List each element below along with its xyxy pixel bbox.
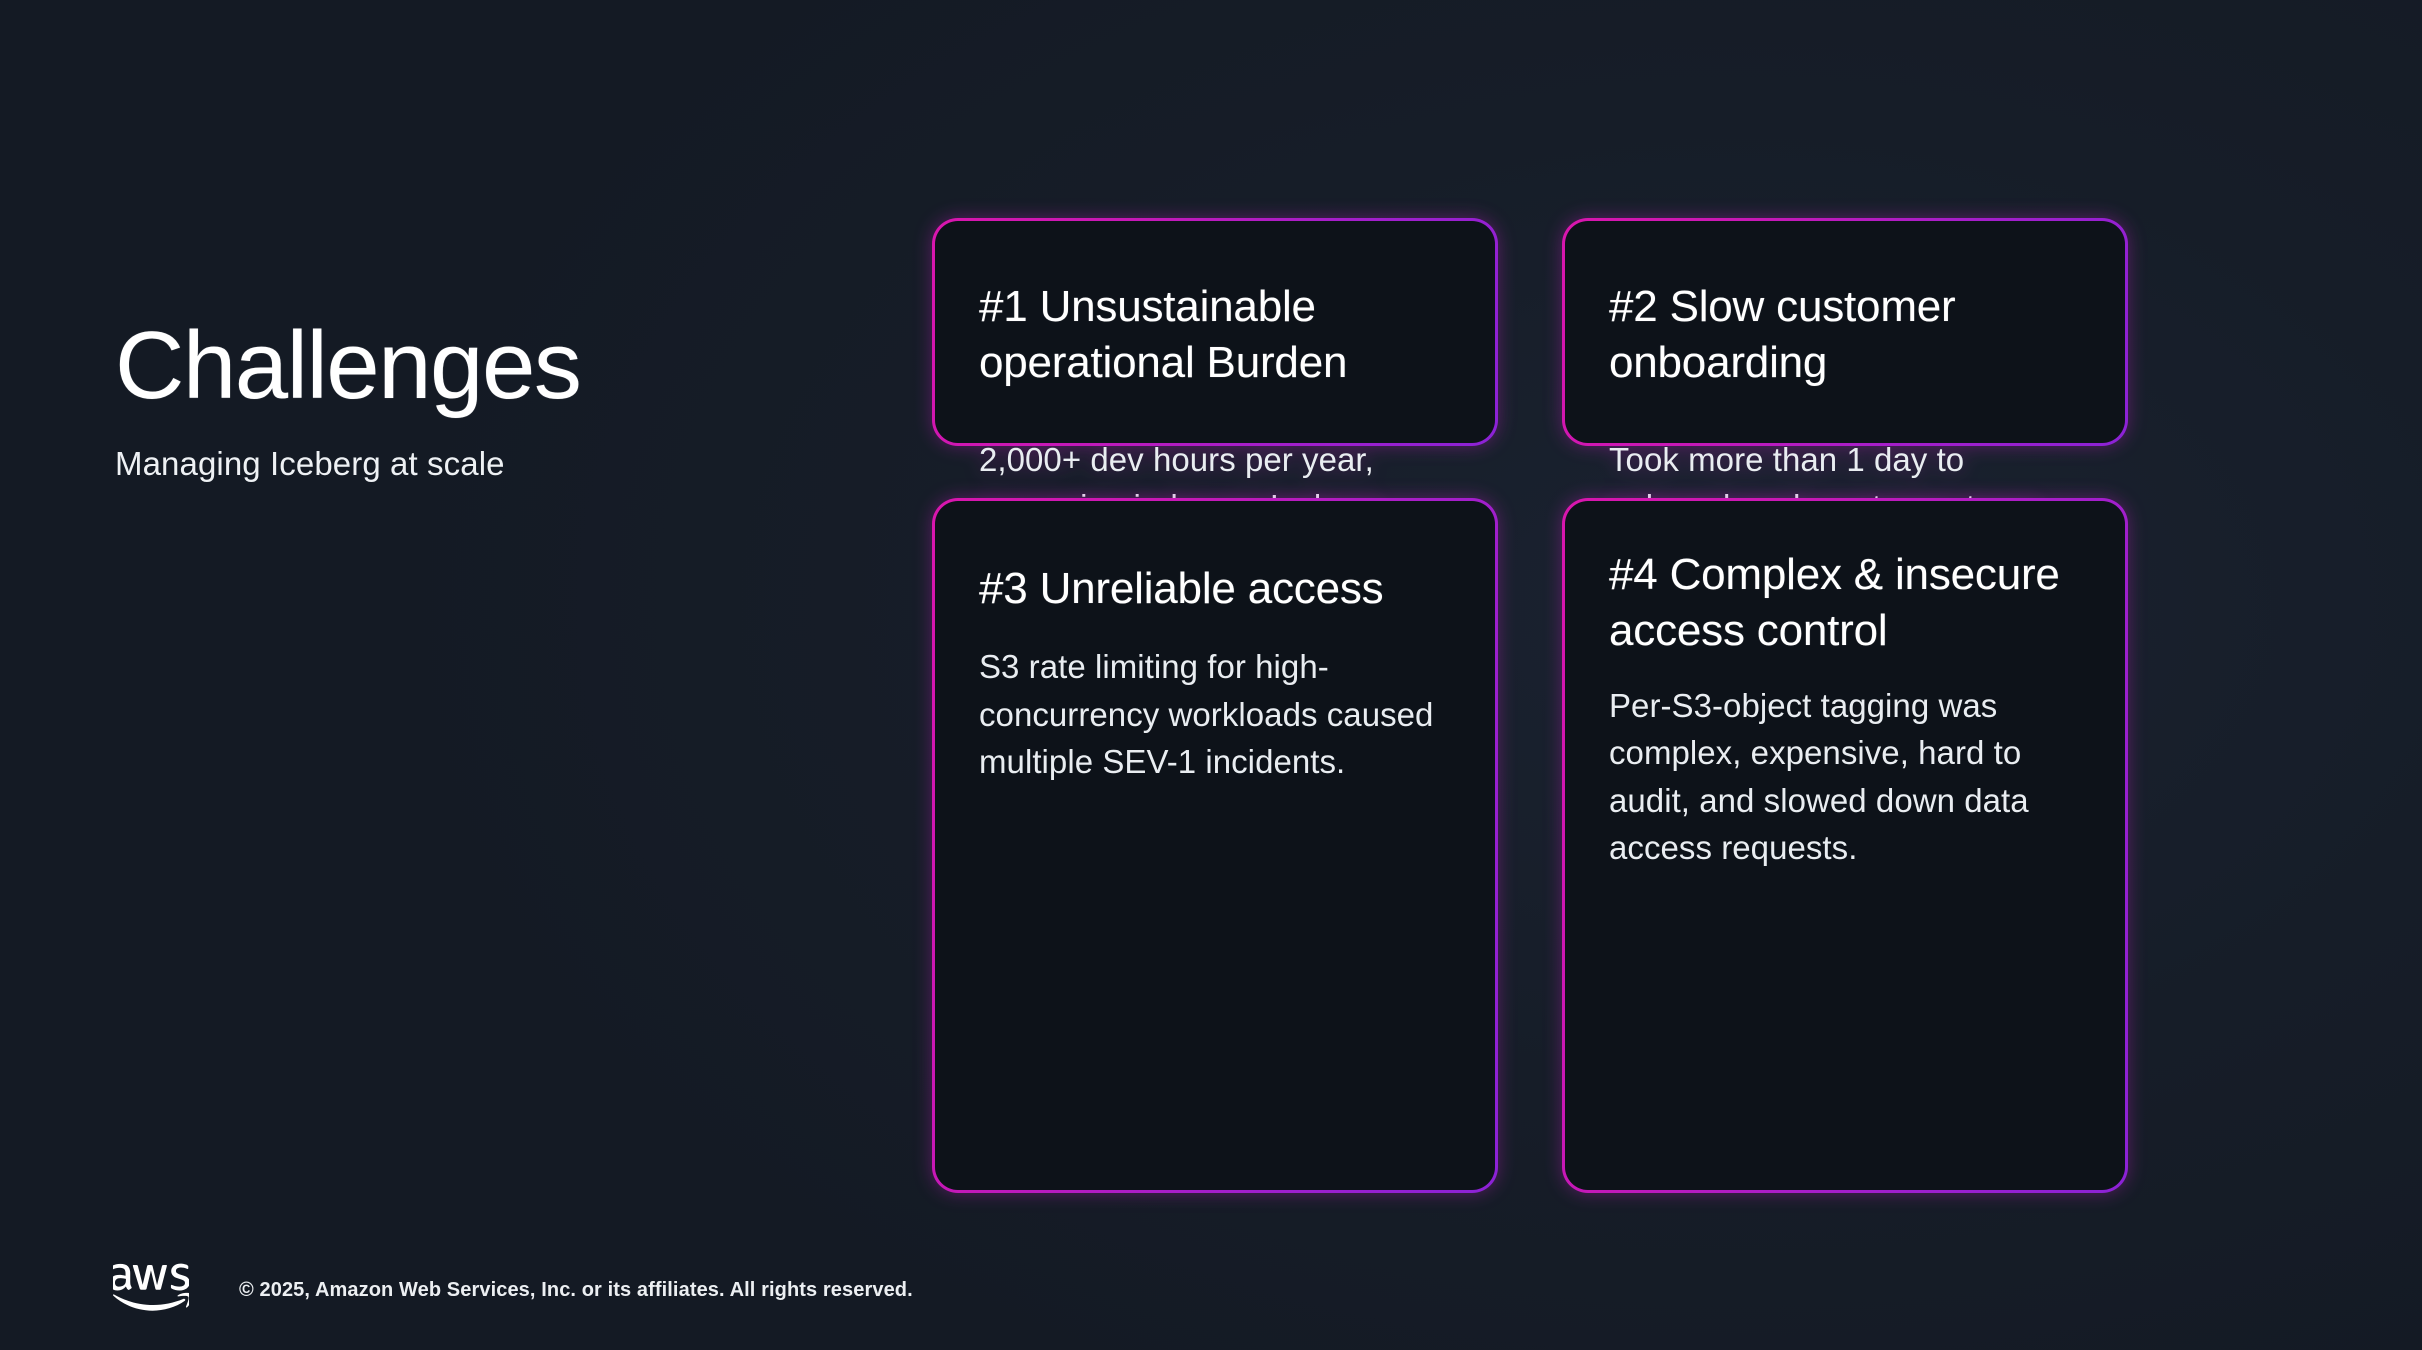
page-subtitle: Managing Iceberg at scale [115, 444, 875, 484]
card-heading: #2 Slow customer onboarding [1609, 279, 2081, 392]
challenge-card-4: #4 Complex & insecure access control Per… [1562, 498, 2128, 1193]
challenge-card-grid: #1 Unsustainable operational Burden 2,00… [932, 218, 2128, 1193]
challenge-card-2: #2 Slow customer onboarding Took more th… [1562, 218, 2128, 446]
challenge-card-3: #3 Unreliable access S3 rate limiting fo… [932, 498, 1498, 1193]
copyright-text: © 2025, Amazon Web Services, Inc. or its… [239, 1279, 913, 1302]
card-content: #1 Unsustainable operational Burden 2,00… [935, 221, 1495, 443]
card-content: #3 Unreliable access S3 rate limiting fo… [935, 501, 1495, 1190]
card-content: #2 Slow customer onboarding Took more th… [1565, 221, 2125, 443]
page-title: Challenges [115, 318, 875, 414]
card-heading: #1 Unsustainable operational Burden [979, 279, 1451, 392]
challenge-card-1: #1 Unsustainable operational Burden 2,00… [932, 218, 1498, 446]
card-body: S3 rate limiting for high-concurrency wo… [979, 643, 1451, 786]
card-body: Per-S3-object tagging was complex, expen… [1609, 682, 2081, 872]
slide-footer: © 2025, Amazon Web Services, Inc. or its… [113, 1260, 913, 1312]
card-content: #4 Complex & insecure access control Per… [1565, 501, 2125, 1190]
card-heading: #3 Unreliable access [979, 561, 1451, 617]
slide-title-block: Challenges Managing Iceberg at scale [115, 318, 875, 484]
aws-logo-icon [113, 1260, 189, 1312]
card-heading: #4 Complex & insecure access control [1609, 547, 2081, 660]
